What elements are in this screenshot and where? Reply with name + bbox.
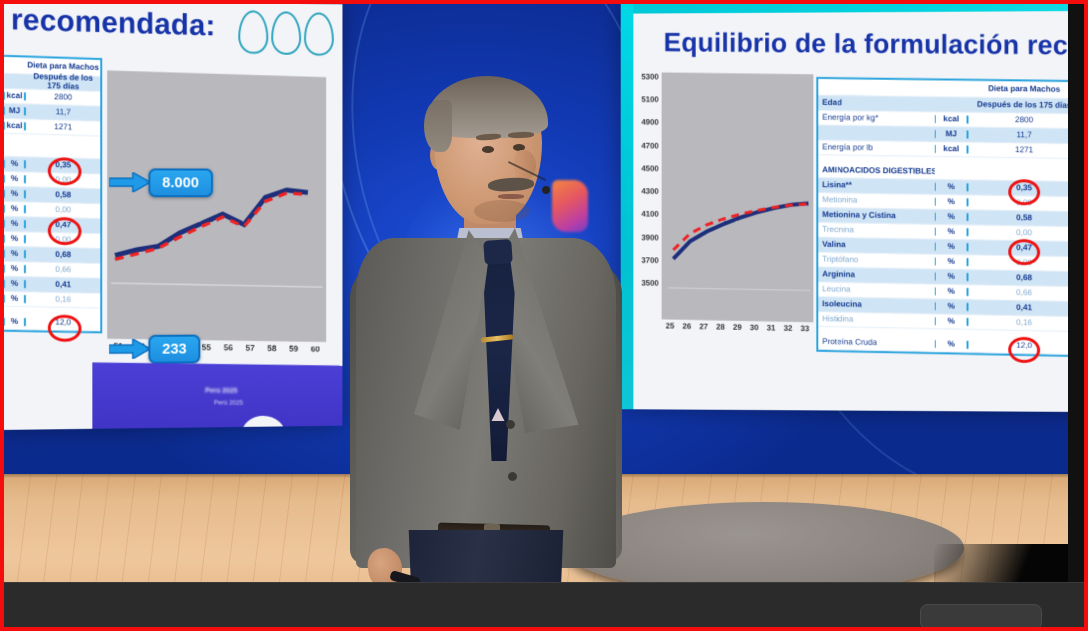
table-cell-unit bbox=[4, 149, 26, 150]
chart-y-axis: 5300510049004700450043004100390037003500 bbox=[629, 72, 662, 288]
y-axis-tick-label: 3900 bbox=[629, 232, 659, 241]
table-row: Histidina%0,16 bbox=[4, 290, 100, 308]
x-axis-tick-label: 55 bbox=[202, 342, 211, 352]
photo-right-edge bbox=[1068, 4, 1084, 594]
table-cell-label: Triptófano bbox=[818, 255, 934, 266]
table-cell-unit: MJ bbox=[935, 130, 969, 139]
x-axis-tick-label: 25 bbox=[666, 321, 675, 330]
x-axis-tick-label: 31 bbox=[767, 323, 776, 332]
y-axis-tick-label: 4100 bbox=[629, 210, 659, 219]
slide-teal-top-border bbox=[621, 4, 1084, 14]
table-cell-value: 0,66 bbox=[968, 288, 1080, 299]
table-cell-unit: % bbox=[935, 272, 969, 281]
left-slide-footer-band: Perú 2025 Perú 2025 bbox=[92, 362, 342, 430]
table-cell-value: 0,00 bbox=[968, 198, 1080, 208]
table-cell-unit: % bbox=[4, 219, 26, 228]
table-cell-value: 11,7 bbox=[968, 130, 1080, 140]
table-cell-unit: % bbox=[4, 189, 26, 198]
table-cell-value: 0,41 bbox=[26, 280, 100, 290]
x-axis-tick-label: 32 bbox=[784, 324, 793, 333]
table-cell-value: 0,00 bbox=[26, 235, 100, 245]
table-cell-unit: % bbox=[4, 294, 26, 303]
table-cell-unit: % bbox=[4, 279, 26, 288]
table-cell-value: 0,68 bbox=[968, 273, 1080, 284]
left-slide-title: n recomendada: bbox=[4, 4, 215, 43]
bottom-toolbar bbox=[4, 582, 1084, 627]
table-cell-unit: % bbox=[935, 317, 969, 326]
left-chart-svg bbox=[107, 70, 326, 342]
table-cell-label: Leucina bbox=[818, 285, 934, 296]
table-cell-value: 2800 bbox=[968, 115, 1080, 125]
callout-arrow-icon bbox=[109, 339, 150, 359]
table-cell-unit: % bbox=[935, 242, 969, 251]
table-cell-value: 0,58 bbox=[26, 190, 100, 200]
table-cell-label: Histidina bbox=[818, 315, 934, 326]
egg-outline-icon bbox=[271, 11, 301, 55]
table-cell-value: 0,47 bbox=[26, 220, 100, 230]
table-cell-value: 2800 bbox=[26, 92, 100, 103]
table-cell-unit: % bbox=[4, 174, 26, 183]
table-cell-value: 0,00 bbox=[26, 205, 100, 215]
table-cell: Dieta para Machos bbox=[26, 61, 100, 72]
table-cell-unit: % bbox=[4, 249, 26, 258]
chin-shadow bbox=[474, 200, 530, 222]
table-cell-label bbox=[818, 133, 934, 135]
table-cell-unit: % bbox=[935, 340, 969, 349]
table-cell-unit: % bbox=[4, 159, 26, 168]
table-cell-value: 0,16 bbox=[968, 318, 1080, 329]
table-cell-label: Metionina bbox=[818, 196, 934, 206]
table-cell-unit: % bbox=[935, 212, 969, 221]
table-cell-label: Valina bbox=[818, 240, 934, 251]
x-axis-tick-label: 28 bbox=[716, 322, 725, 331]
table-cell-value: Después de los 175 días bbox=[968, 100, 1080, 110]
projection-screen-left: n recomendada: Dieta para MachosEdadDesp… bbox=[4, 4, 342, 430]
left-slide-diet-table: Dieta para MachosEdadDespués de los 175 … bbox=[4, 52, 102, 333]
y-axis-tick-label: 5100 bbox=[629, 95, 659, 104]
table-cell-unit: % bbox=[935, 287, 969, 296]
table-cell-label: Energía por kg* bbox=[818, 113, 934, 123]
table-cell-value bbox=[26, 149, 100, 151]
y-axis-tick-label: 4300 bbox=[629, 187, 659, 196]
jacket-button bbox=[508, 472, 517, 481]
table-cell-value: 0,00 bbox=[26, 175, 100, 186]
table-cell-value: 0,35 bbox=[968, 183, 1080, 193]
table-cell-label: Isoleucina bbox=[818, 300, 934, 311]
table-cell-label: Treonina bbox=[818, 225, 934, 235]
callout-arrow-icon bbox=[109, 172, 150, 192]
table-cell-unit: kcal bbox=[4, 91, 26, 100]
chart-line-referencia bbox=[673, 202, 808, 253]
footer-band-subtitle: Perú 2025 bbox=[214, 400, 243, 407]
mouth bbox=[498, 194, 524, 199]
jacket-button bbox=[506, 420, 515, 429]
table-cell-value: 0,47 bbox=[968, 243, 1080, 253]
table-cell-unit: % bbox=[4, 234, 26, 243]
table-cell-value: 0,00 bbox=[968, 228, 1080, 238]
x-axis-tick-label: 30 bbox=[750, 323, 759, 332]
right-chart-svg bbox=[662, 72, 814, 322]
table-cell-value: 1271 bbox=[968, 145, 1080, 155]
eye-left bbox=[482, 146, 494, 153]
table-cell-value: 1271 bbox=[26, 122, 100, 133]
table-cell-label: Lisina** bbox=[818, 181, 934, 191]
y-axis-tick-label: 4900 bbox=[629, 118, 659, 127]
left-chart-line-reference bbox=[115, 189, 308, 263]
y-axis-tick-label: 3500 bbox=[629, 278, 659, 287]
table-row: Arginina%0,68 bbox=[4, 245, 100, 264]
diet-table: Dieta para MachosEdadDespués de los 175 … bbox=[816, 77, 1082, 357]
table-cell-value: 0,58 bbox=[968, 213, 1080, 223]
x-axis-tick-label: 56 bbox=[224, 342, 233, 352]
table-cell-unit: % bbox=[935, 198, 969, 207]
table-cell-unit: kcal bbox=[4, 121, 26, 130]
callout-badge-8000: 8.000 bbox=[148, 168, 212, 197]
table-cell bbox=[818, 87, 934, 88]
x-axis-tick-label: 29 bbox=[733, 323, 742, 332]
table-cell-unit: % bbox=[4, 204, 26, 213]
chart-axis-line bbox=[667, 288, 810, 291]
table-cell-unit bbox=[4, 81, 26, 82]
table-cell-value: 12,0 bbox=[26, 318, 100, 328]
y-axis-tick-label: 4700 bbox=[629, 141, 659, 150]
y-axis-tick-label: 3700 bbox=[629, 255, 659, 264]
table-cell-value: 0,66 bbox=[26, 265, 100, 275]
table-cell-value: 0,41 bbox=[968, 303, 1080, 314]
table-cell-value: 0,16 bbox=[26, 295, 100, 305]
x-axis-tick-label: 59 bbox=[289, 343, 298, 353]
table-cell: Dieta para Machos bbox=[968, 84, 1080, 94]
table-cell-label: Energía por lb bbox=[818, 143, 934, 153]
table-cell bbox=[4, 65, 26, 66]
table-cell-value: Después de los 175 días bbox=[26, 73, 100, 93]
speaker-person: ▲ bbox=[356, 78, 616, 627]
table-cell-label: Arginina bbox=[818, 270, 934, 281]
callout-badge-233: 233 bbox=[148, 335, 200, 364]
table-row: Leucina%0,66 bbox=[4, 260, 100, 279]
table-cell-unit: % bbox=[4, 264, 26, 273]
y-axis-tick-label: 4500 bbox=[629, 164, 659, 173]
table-row: Proteína Cruda%12,0 bbox=[4, 313, 100, 331]
table-cell-value: 0,68 bbox=[26, 250, 100, 260]
table-cell-value: 12,0 bbox=[968, 341, 1080, 352]
table-cell-unit: kcal bbox=[935, 115, 969, 124]
table-cell-value: 11,7 bbox=[26, 107, 100, 118]
table-cell-value: 0,35 bbox=[26, 160, 100, 171]
y-axis-tick-label: 5300 bbox=[629, 72, 659, 81]
headset-microphone-tip bbox=[542, 186, 550, 194]
table-cell-unit: % bbox=[4, 317, 26, 326]
right-slide-title: Equilibrio de la formulación recom bbox=[664, 27, 1084, 61]
table-cell-value: 0,00 bbox=[968, 258, 1080, 269]
egg-outline-icon bbox=[304, 12, 334, 56]
table-cell-unit: % bbox=[935, 302, 969, 311]
toolbar-button[interactable] bbox=[920, 604, 1042, 627]
table-cell-unit: % bbox=[935, 183, 969, 192]
table-cell-label: Edad bbox=[818, 98, 934, 108]
table-cell-unit: % bbox=[935, 257, 969, 266]
x-axis-tick-label: 26 bbox=[682, 322, 691, 331]
annotated-photo-frame: n recomendada: Dieta para MachosEdadDesp… bbox=[0, 0, 1088, 631]
table-cell-value bbox=[968, 172, 1080, 174]
x-axis-tick-label: 57 bbox=[246, 343, 255, 353]
x-axis-tick-label: 33 bbox=[801, 324, 810, 333]
footer-band-title: Perú 2025 bbox=[205, 388, 237, 395]
egg-icon-group bbox=[238, 10, 334, 56]
left-chart-axis-line bbox=[111, 283, 322, 287]
x-axis-tick-label: 60 bbox=[311, 344, 320, 354]
chart-x-axis: 252627282930313233 bbox=[662, 319, 814, 333]
left-slide-chart: 51525354555657585960 bbox=[107, 70, 326, 342]
stage-photograph: n recomendada: Dieta para MachosEdadDesp… bbox=[4, 4, 1084, 627]
table-cell-unit: % bbox=[935, 227, 969, 236]
table-cell-label: AMINOÁCIDOS DIGESTIBLES bbox=[818, 166, 934, 176]
table-row: Isoleucina%0,41 bbox=[4, 275, 100, 293]
x-axis-tick-label: 58 bbox=[267, 343, 276, 353]
table-cell-label: Metionina y Cistina bbox=[818, 211, 934, 221]
egg-outline-icon bbox=[238, 10, 268, 54]
table-cell-label: Proteína Cruda bbox=[818, 338, 934, 349]
projection-screen-right: Equilibrio de la formulación recom 53005… bbox=[621, 4, 1084, 412]
hair-side bbox=[424, 100, 452, 152]
necktie-knot bbox=[483, 239, 513, 265]
table-cell-unit: MJ bbox=[4, 106, 26, 115]
stage-rug bbox=[564, 502, 964, 594]
x-axis-tick-label: 27 bbox=[699, 322, 708, 331]
table-cell-unit: kcal bbox=[935, 145, 969, 154]
right-slide-chart: 5300510049004700450043004100390037003500… bbox=[662, 72, 814, 322]
